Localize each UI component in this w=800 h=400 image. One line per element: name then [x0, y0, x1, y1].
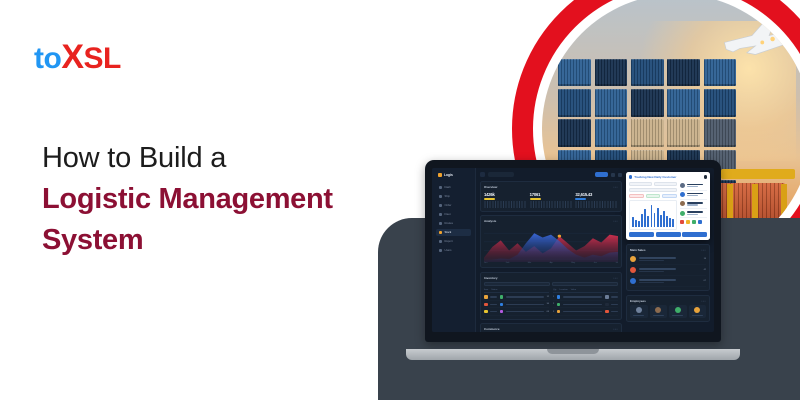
- sidebar-label: Stock: [445, 231, 452, 234]
- metric-value: 17061: [530, 192, 573, 197]
- commerce-card: Commerce •••: [480, 323, 622, 332]
- logo-text-x: X: [61, 38, 83, 76]
- list-item[interactable]: 07: [630, 276, 706, 287]
- laptop-screen: Logis Dash Ship Order Fleet Routes Stock…: [432, 168, 714, 332]
- poster-canvas: toXSL How to Build a Logistic Management…: [0, 0, 800, 400]
- truck-icon: [439, 195, 442, 198]
- sparkline: [484, 201, 527, 208]
- metric-value: 32,615.43: [575, 192, 618, 197]
- modal-save-button[interactable]: [656, 232, 681, 237]
- dashboard-right-column: Tracking New Daily Customer: [626, 168, 714, 332]
- more-icon[interactable]: •••: [613, 219, 618, 223]
- sidebar-label: Report: [445, 240, 453, 243]
- more-icon[interactable]: •••: [613, 185, 618, 189]
- employee-card[interactable]: [689, 305, 707, 318]
- sidebar-item-ship[interactable]: Ship: [436, 193, 471, 200]
- laptop-base-notch: [547, 349, 599, 354]
- metric-card: 17061: [530, 192, 573, 208]
- sidebar-item-order[interactable]: Order: [436, 202, 471, 209]
- metric-card: 32,615.43: [575, 192, 618, 208]
- employees-title: Employees: [630, 299, 646, 303]
- metric-card: 1426k: [484, 192, 527, 208]
- toxsl-logo[interactable]: toXSL: [34, 40, 121, 74]
- box-icon: [439, 204, 442, 207]
- bell-icon[interactable]: [611, 173, 615, 177]
- headline-block: How to Build a Logistic Management Syste…: [42, 138, 402, 262]
- headline-line-2: Logistic Management: [42, 179, 402, 220]
- x-tick: Jul: [615, 262, 618, 264]
- table-row[interactable]: 3: [553, 308, 618, 315]
- modal-close-button[interactable]: [682, 232, 707, 237]
- menu-icon[interactable]: [480, 172, 485, 177]
- table-row[interactable]: 1: [553, 294, 618, 301]
- inventory-table: ItemStatus 12 34 08 QtyLocationValue 1 2: [484, 289, 618, 316]
- analysis-area-chart: [484, 226, 618, 262]
- dashboard-brand-name: Logis: [444, 173, 453, 177]
- more-icon[interactable]: •••: [613, 327, 618, 331]
- more-icon[interactable]: •••: [701, 299, 706, 303]
- logo-text-sl: SL: [84, 42, 121, 75]
- table-header: ItemStatus: [484, 289, 549, 293]
- create-button[interactable]: [595, 172, 608, 177]
- table-row[interactable]: 34: [484, 301, 549, 308]
- list-item[interactable]: [680, 209, 707, 218]
- chip-pending[interactable]: [646, 194, 661, 198]
- main-sales-title: Main Sales: [630, 248, 646, 252]
- chip-closed[interactable]: [662, 194, 677, 198]
- inventory-card: Inventory ••• ItemStatus 12: [480, 272, 622, 320]
- list-item[interactable]: 18: [630, 254, 706, 265]
- metric-bar: [575, 198, 586, 200]
- location-select[interactable]: [654, 182, 677, 186]
- sidebar-label: Users: [445, 249, 452, 252]
- table-row[interactable]: 08: [484, 308, 549, 315]
- x-tick: Jun: [594, 262, 597, 264]
- analysis-x-axis: Jan Feb Mar Apr May Jun Jul: [484, 262, 618, 264]
- dashboard-sidebar: Logis Dash Ship Order Fleet Routes Stock…: [432, 168, 476, 332]
- sparkline: [530, 201, 573, 208]
- gear-icon[interactable]: [618, 173, 622, 177]
- employee-card[interactable]: [630, 305, 648, 318]
- list-item[interactable]: [680, 200, 707, 209]
- table-row[interactable]: 12: [484, 294, 549, 301]
- headline-line-3: System: [42, 220, 402, 261]
- more-icon[interactable]: •••: [613, 276, 618, 280]
- x-tick: May: [571, 262, 575, 264]
- avatar-icon[interactable]: [704, 175, 707, 178]
- x-tick: Mar: [528, 262, 532, 264]
- table-header: QtyLocationValue: [553, 289, 618, 293]
- chip-active[interactable]: [629, 194, 644, 198]
- laptop-base: [406, 349, 740, 360]
- sidebar-item-stock[interactable]: Stock: [436, 229, 471, 236]
- shipments-bar-chart: [629, 200, 677, 230]
- airplane-icon: [721, 16, 800, 62]
- sidebar-item-routes[interactable]: Routes: [436, 220, 471, 227]
- logo-text-to: to: [34, 42, 61, 75]
- sidebar-item-fleet[interactable]: Fleet: [436, 211, 471, 218]
- shipping-method-select[interactable]: [629, 188, 677, 192]
- sparkline: [575, 201, 618, 208]
- sidebar-label: Order: [445, 204, 452, 207]
- user-icon: [439, 249, 442, 252]
- more-icon[interactable]: •••: [701, 248, 706, 252]
- back-arrow-icon[interactable]: [629, 175, 632, 178]
- metric-value: 1426k: [484, 192, 527, 197]
- sidebar-label: Ship: [445, 195, 450, 198]
- sidebar-label: Dash: [445, 186, 451, 189]
- tracking-modal: Tracking New Daily Customer: [626, 172, 710, 240]
- grid-icon: [439, 186, 442, 189]
- modal-back-button[interactable]: [629, 232, 654, 237]
- sort-filter[interactable]: [552, 282, 618, 286]
- x-tick: Feb: [506, 262, 510, 264]
- sidebar-item-users[interactable]: Users: [436, 247, 471, 254]
- dashboard-topbar: [480, 172, 622, 177]
- employee-card[interactable]: [669, 305, 687, 318]
- laptop-mockup: Logis Dash Ship Order Fleet Routes Stock…: [415, 160, 731, 360]
- laptop-lid: Logis Dash Ship Order Fleet Routes Stock…: [425, 160, 721, 342]
- warehouse-filter[interactable]: [484, 282, 550, 286]
- cube-icon: [438, 173, 442, 177]
- headline-line-1: How to Build a: [42, 138, 402, 179]
- van-icon: [439, 213, 442, 216]
- x-tick: Jan: [484, 262, 487, 264]
- list-item[interactable]: 42: [630, 265, 706, 276]
- modal-footer: [629, 232, 707, 237]
- customer-select[interactable]: [629, 182, 652, 186]
- sidebar-label: Fleet: [445, 213, 451, 216]
- analysis-title: Analysis: [484, 219, 496, 223]
- dashboard-brand[interactable]: Logis: [436, 173, 471, 177]
- sidebar-item-dash[interactable]: Dash: [436, 184, 471, 191]
- metric-bar: [530, 198, 541, 200]
- table-row[interactable]: 2: [553, 301, 618, 308]
- logistics-dashboard: Logis Dash Ship Order Fleet Routes Stock…: [432, 168, 714, 332]
- chart-icon: [439, 240, 442, 243]
- sidebar-label: Routes: [445, 222, 454, 225]
- employee-grid: [630, 305, 706, 318]
- dashboard-main: Overview ••• 1426k 17061: [476, 168, 626, 332]
- inventory-title: Inventory: [484, 276, 498, 280]
- chart-legend: [680, 220, 707, 224]
- analysis-card: Analysis •••: [480, 215, 622, 268]
- layers-icon: [439, 231, 442, 234]
- list-item[interactable]: [680, 191, 707, 200]
- route-icon: [439, 222, 442, 225]
- commerce-title: Commerce: [484, 327, 500, 331]
- list-item[interactable]: [680, 182, 707, 191]
- modal-title: Tracking New Daily Customer: [634, 175, 676, 179]
- overview-card: Overview ••• 1426k 17061: [480, 181, 622, 212]
- metric-list: 1426k 17061 32,615.4: [484, 192, 618, 208]
- metric-bar: [484, 198, 495, 200]
- employees-panel: Employees •••: [626, 295, 710, 322]
- overview-title: Overview: [484, 185, 497, 189]
- main-sales-panel: Main Sales ••• 18 42 07: [626, 244, 710, 292]
- employee-card[interactable]: [650, 305, 668, 318]
- contact-list: [680, 182, 707, 230]
- x-tick: Apr: [550, 262, 553, 264]
- search-input[interactable]: [488, 172, 514, 177]
- sidebar-item-report[interactable]: Report: [436, 238, 471, 245]
